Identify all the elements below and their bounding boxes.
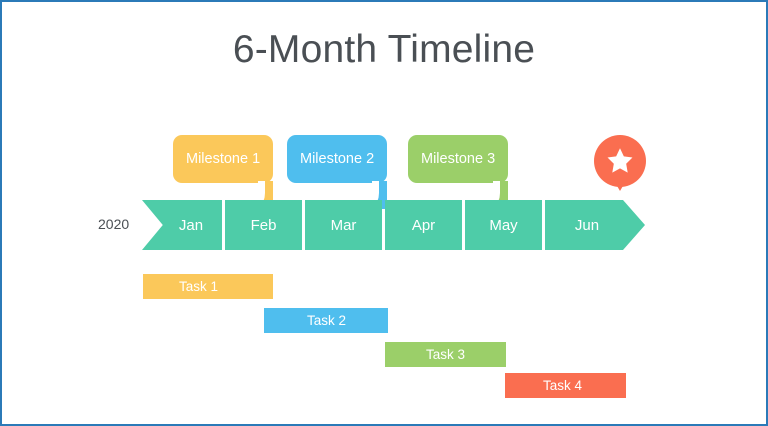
milestone-label: Milestone 3 <box>421 151 495 167</box>
pin-point-icon <box>613 179 627 191</box>
timeline-month-jan[interactable]: Jan <box>142 200 222 250</box>
task-bar-4[interactable]: Task 4 <box>505 373 626 398</box>
task-label: Task 1 <box>179 279 218 294</box>
timeline-month-apr[interactable]: Apr <box>385 200 462 250</box>
timeline-month-jun[interactable]: Jun <box>545 200 645 250</box>
timeline-month-may[interactable]: May <box>465 200 542 250</box>
milestone-callout-3[interactable]: Milestone 3 <box>408 135 508 183</box>
star-icon <box>606 146 634 174</box>
month-label: Jan <box>179 217 203 234</box>
month-label: Mar <box>331 217 357 234</box>
timeline-month-mar[interactable]: Mar <box>305 200 382 250</box>
star-badge[interactable] <box>594 135 646 187</box>
milestone-label: Milestone 2 <box>300 151 374 167</box>
task-label: Task 4 <box>543 378 582 393</box>
milestone-callout-2[interactable]: Milestone 2 <box>287 135 387 183</box>
milestone-callout-1[interactable]: Milestone 1 <box>173 135 273 183</box>
timeline-year-label: 2020 <box>98 216 129 232</box>
task-bar-2[interactable]: Task 2 <box>264 308 388 333</box>
task-bar-1[interactable]: Task 1 <box>143 274 273 299</box>
month-label: Apr <box>412 217 435 234</box>
task-bar-3[interactable]: Task 3 <box>385 342 506 367</box>
task-label: Task 3 <box>426 347 465 362</box>
timeline-month-feb[interactable]: Feb <box>225 200 302 250</box>
month-label: Feb <box>251 217 277 234</box>
month-label: Jun <box>575 217 599 234</box>
milestone-label: Milestone 1 <box>186 151 260 167</box>
month-label: May <box>489 217 517 234</box>
page-title: 6-Month Timeline <box>2 28 766 72</box>
slide-canvas: 6-Month Timeline Milestone 1 Milestone 2… <box>0 0 768 426</box>
task-label: Task 2 <box>307 313 346 328</box>
